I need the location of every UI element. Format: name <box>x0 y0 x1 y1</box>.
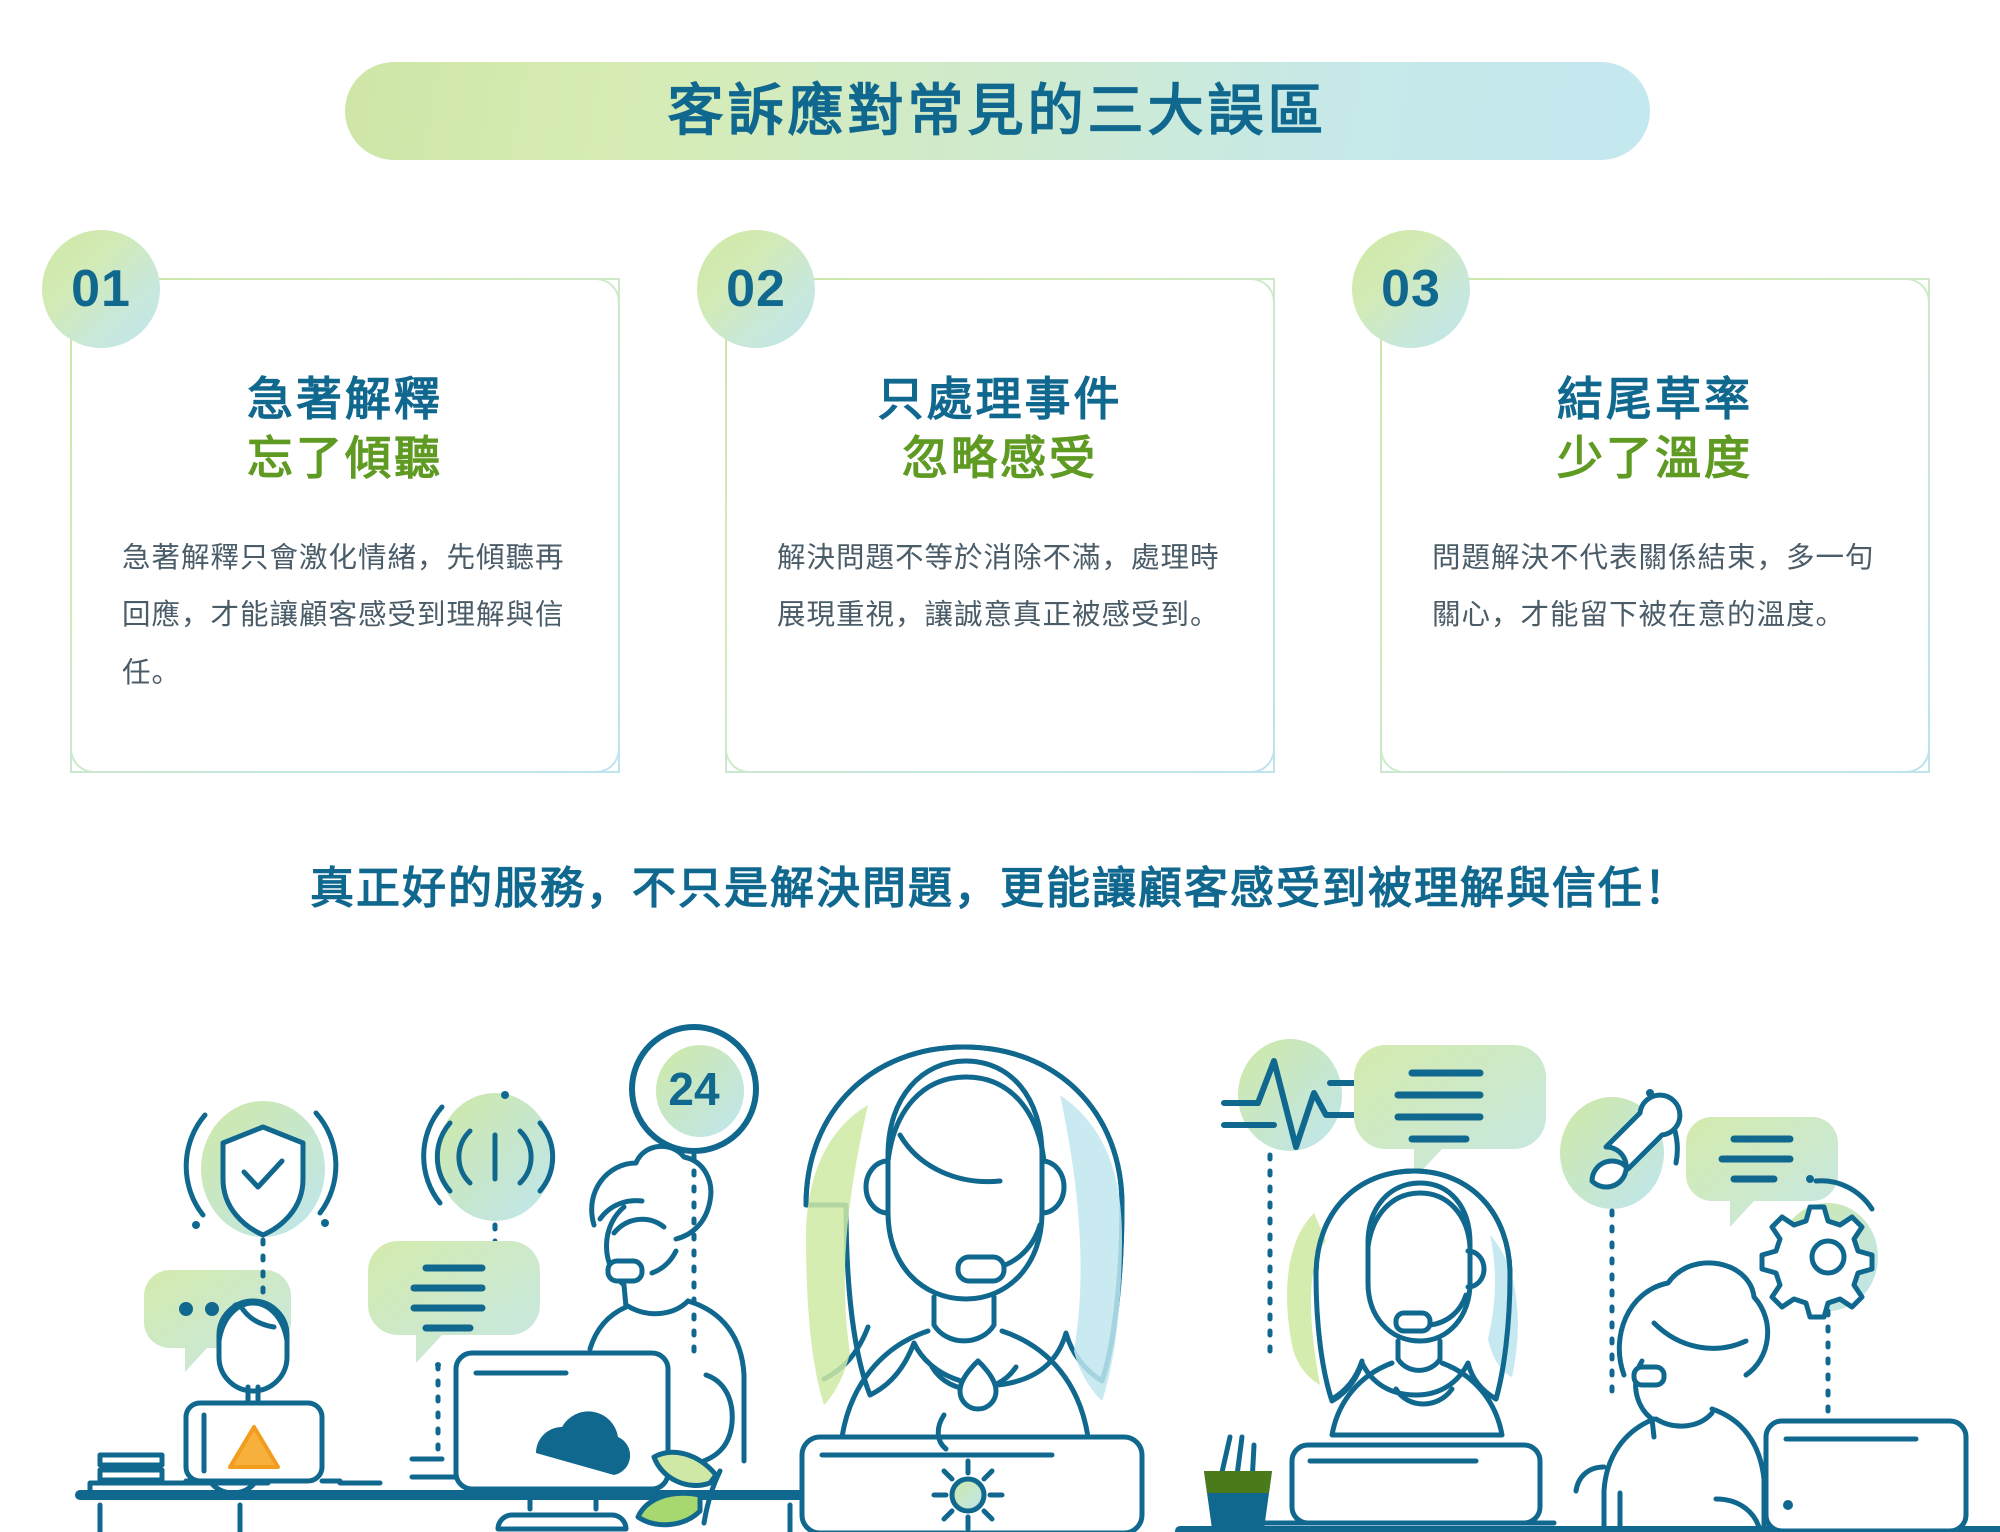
card-01-heading: 急著解釋 忘了傾聽 <box>116 370 574 488</box>
badge-24-icon: 24 <box>632 1027 756 1151</box>
tagline: 真正好的服務，不只是解決問題，更能讓顧客感受到被理解與信任！ <box>0 852 2000 916</box>
card-03-number: 03 <box>1381 263 1441 315</box>
card-01-heading-line1: 急著解釋 <box>116 370 574 429</box>
shield-check-icon <box>186 1101 336 1237</box>
card-02-number-badge: 02 <box>697 230 815 348</box>
card-01-body: 急著解釋只會激化情緒，先傾聽再回應，才能讓顧客感受到理解與信任。 <box>116 530 574 703</box>
card-02-heading-line2: 忽略感受 <box>771 429 1229 488</box>
agent-right-2 <box>1576 1263 1966 1531</box>
infographic-page: 客訴應對常見的三大誤區 急著解釋 忘了傾聽 急著解釋只會激化情緒，先傾聽再回應，… <box>0 0 2000 1532</box>
card-02-body: 解決問題不等於消除不滿，處理時展現重視，讓誠意真正被感受到。 <box>771 530 1229 645</box>
callcenter-illustration: 24 <box>0 975 2000 1532</box>
card-03-heading-line1: 結尾草率 <box>1426 370 1884 429</box>
card-02-heading-line1: 只處理事件 <box>771 370 1229 429</box>
card-03-heading: 結尾草率 少了溫度 <box>1426 370 1884 488</box>
brightness-sun-icon <box>934 1461 1002 1529</box>
page-title: 客訴應對常見的三大誤區 <box>668 83 1328 139</box>
card-wrap-03: 結尾草率 少了溫度 問題解決不代表關係結束，多一句關心，才能留下被在意的溫度。 … <box>1380 278 1930 773</box>
signal-waves-icon <box>424 1091 553 1221</box>
card-03: 結尾草率 少了溫度 問題解決不代表關係結束，多一句關心，才能留下被在意的溫度。 <box>1380 278 1930 773</box>
chat-lines-icon <box>368 1241 540 1363</box>
monitor-cloud <box>456 1353 668 1529</box>
card-01-number-badge: 01 <box>42 230 160 348</box>
card-01: 急著解釋 忘了傾聽 急著解釋只會激化情緒，先傾聽再回應，才能讓顧客感受到理解與信… <box>70 278 620 773</box>
card-02-number: 02 <box>726 263 786 315</box>
agent-right-1 <box>1287 1171 1540 1523</box>
wrench-icon <box>1560 1089 1680 1209</box>
card-wrap-02: 只處理事件 忽略感受 解決問題不等於消除不滿，處理時展現重視，讓誠意真正被感受到… <box>725 278 1275 773</box>
pen-cup-icon <box>1204 1437 1272 1529</box>
card-wrap-01: 急著解釋 忘了傾聽 急著解釋只會激化情緒，先傾聽再回應，才能讓顧客感受到理解與信… <box>70 278 620 773</box>
title-banner: 客訴應對常見的三大誤區 <box>345 62 1650 160</box>
agent-center <box>802 1047 1142 1532</box>
card-01-number: 01 <box>71 263 131 315</box>
card-02-heading: 只處理事件 忽略感受 <box>771 370 1229 488</box>
card-03-heading-line2: 少了溫度 <box>1426 429 1884 488</box>
card-02: 只處理事件 忽略感受 解決問題不等於消除不滿，處理時展現重視，讓誠意真正被感受到… <box>725 278 1275 773</box>
cards-row: 急著解釋 忘了傾聽 急著解釋只會激化情緒，先傾聽再回應，才能讓顧客感受到理解與信… <box>0 278 2000 773</box>
card-03-body: 問題解決不代表關係結束，多一句關心，才能留下被在意的溫度。 <box>1426 530 1884 645</box>
badge-24-label: 24 <box>668 1063 720 1115</box>
chat-lines-icon-2 <box>1354 1045 1546 1179</box>
card-01-heading-line2: 忘了傾聽 <box>116 429 574 488</box>
card-03-number-badge: 03 <box>1352 230 1470 348</box>
